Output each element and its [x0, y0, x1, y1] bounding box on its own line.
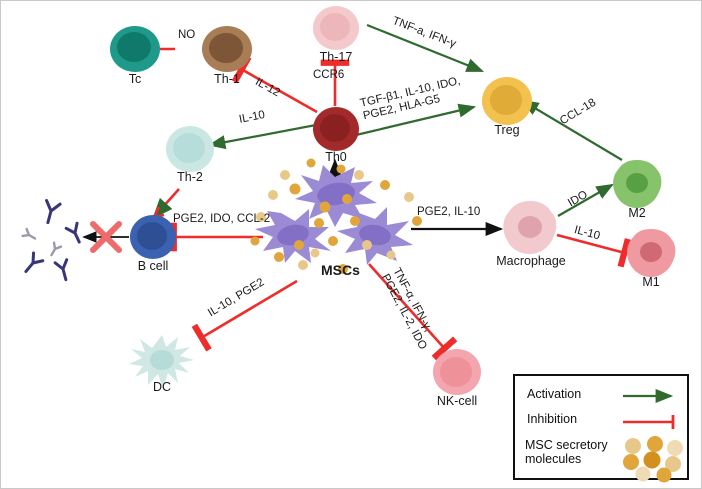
- legend-label-activation: Activation: [527, 387, 581, 401]
- cell-label-m1: M1: [623, 276, 679, 290]
- edge-label-ccr6: CCR6: [313, 69, 344, 81]
- cell-th0[interactable]: [311, 104, 361, 154]
- cell-label-bcell: B cell: [119, 260, 187, 274]
- edge-label-no: NO: [178, 29, 195, 41]
- cell-macrophage[interactable]: [501, 199, 559, 257]
- legend-label-inhibition: Inhibition: [527, 412, 577, 426]
- cell-label-m2: M2: [609, 207, 665, 221]
- edge-il10-th2: [210, 125, 316, 145]
- legend-glyph-activation-arrow: [623, 390, 679, 402]
- cell-label-mscs: MSCs: [321, 263, 360, 278]
- cell-label-dc: DC: [132, 381, 192, 395]
- cell-label-tc: Tc: [107, 73, 163, 87]
- cell-label-nkcell: NK-cell: [419, 395, 495, 409]
- cell-th2[interactable]: [164, 123, 216, 175]
- cell-bcell[interactable]: [128, 212, 178, 262]
- cell-m1[interactable]: [625, 227, 677, 279]
- legend-glyph-secretory-dots: [621, 436, 683, 478]
- cell-label-th17: Th-17: [306, 51, 366, 65]
- antibody-cluster: [11, 191, 121, 291]
- cell-treg[interactable]: [480, 74, 534, 128]
- cell-th17[interactable]: [311, 3, 361, 53]
- legend-label-secretory: MSC secretory molecules: [525, 438, 608, 467]
- cell-label-macrophage: Macrophage: [491, 255, 571, 269]
- cell-th1[interactable]: [199, 21, 255, 77]
- cell-label-treg: Treg: [477, 124, 537, 138]
- edge-label-pge2-ido-ccl2: PGE2, IDO, CCL-2: [173, 213, 270, 225]
- diagram-canvas: Tc Th-1 Th-17 Th0 Th-2 Treg B cell Macro…: [0, 0, 702, 489]
- legend-glyph-inhibition-tbar: [623, 414, 679, 430]
- cell-label-th2: Th-2: [161, 171, 219, 185]
- legend-box: Activation Inhibition MSC secretory mole…: [513, 374, 689, 480]
- edge-label-pge2-il10: PGE2, IL-10: [417, 206, 480, 218]
- cell-m2[interactable]: [611, 158, 663, 210]
- cell-label-th1: Th-1: [199, 73, 255, 87]
- cell-tc[interactable]: [107, 21, 163, 77]
- cell-nkcell[interactable]: [431, 346, 483, 398]
